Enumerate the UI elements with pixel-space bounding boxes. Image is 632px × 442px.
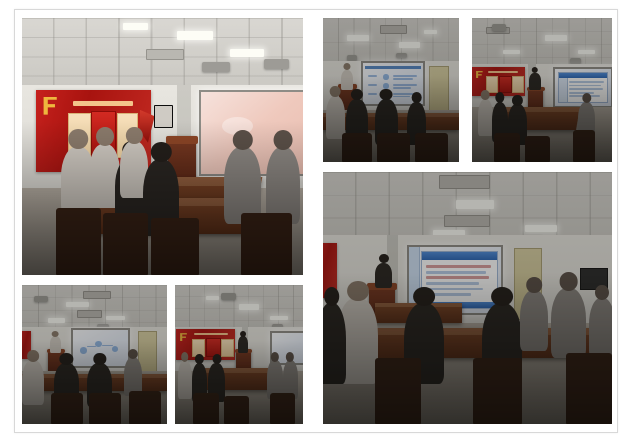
document-text-row xyxy=(569,88,603,90)
slide-text-line xyxy=(393,84,417,86)
slide-text-line xyxy=(393,75,417,77)
ceiling-projector xyxy=(34,296,49,302)
document-sidebar xyxy=(559,78,568,103)
chair xyxy=(224,396,250,424)
slide-node xyxy=(80,347,87,353)
person-head xyxy=(60,353,73,365)
wall-monitor xyxy=(154,105,173,128)
person xyxy=(551,288,586,359)
ceiling-light xyxy=(123,23,148,29)
person-head xyxy=(274,130,293,150)
presenter xyxy=(238,336,248,353)
person xyxy=(520,290,549,350)
ceiling-light xyxy=(424,30,438,34)
person xyxy=(323,303,346,384)
document-text-row xyxy=(426,282,478,285)
person xyxy=(178,360,192,399)
person-head xyxy=(512,95,522,106)
chair xyxy=(525,136,550,162)
person xyxy=(22,360,44,404)
photo-scene xyxy=(472,18,612,162)
ceiling-projector xyxy=(202,62,230,72)
person-head xyxy=(96,127,114,146)
person xyxy=(224,147,261,224)
person-head xyxy=(68,129,88,149)
person xyxy=(478,99,493,136)
person-head xyxy=(195,354,203,364)
photo-diagram-slide[interactable] xyxy=(22,285,167,424)
person-head xyxy=(212,354,221,364)
document-title-bar xyxy=(422,252,497,260)
document-text-row xyxy=(426,271,486,274)
ceiling-light xyxy=(230,49,264,57)
slide-node xyxy=(95,341,102,347)
photo-room-wide-banner[interactable] xyxy=(472,18,612,162)
slide-node xyxy=(112,346,119,352)
person-head xyxy=(412,92,423,103)
ceiling-light xyxy=(399,42,419,48)
slide-text-line xyxy=(393,78,413,80)
slide-text-line xyxy=(368,93,378,95)
person-head xyxy=(93,353,106,365)
chair xyxy=(473,358,522,424)
person-head xyxy=(526,277,542,293)
person-head xyxy=(324,287,340,306)
slide-text-line xyxy=(368,84,378,86)
banner-slogan xyxy=(73,101,133,105)
ceiling-light xyxy=(206,296,219,300)
chair xyxy=(56,208,101,275)
chair xyxy=(151,218,199,275)
person-head xyxy=(491,287,513,306)
chair xyxy=(51,393,83,424)
ac-vent xyxy=(439,175,490,190)
chair xyxy=(270,393,296,424)
person-head xyxy=(380,89,393,101)
chair xyxy=(494,133,519,162)
ceiling-light xyxy=(239,304,259,310)
document-text-row xyxy=(569,85,601,87)
ceiling-light xyxy=(525,225,557,233)
ceiling-projector xyxy=(221,293,236,300)
document-text-row xyxy=(426,288,483,291)
ceiling-light xyxy=(106,316,125,321)
ceiling-projector xyxy=(396,53,407,59)
photo-banner-room[interactable] xyxy=(175,285,303,424)
document-text-row xyxy=(426,265,490,268)
person-head xyxy=(271,352,279,362)
ac-vent xyxy=(77,310,102,318)
person-head xyxy=(347,281,369,302)
ceiling-projector xyxy=(264,59,289,69)
person-head xyxy=(379,254,389,264)
person-head xyxy=(559,272,578,290)
photo-scene xyxy=(323,172,612,424)
person xyxy=(589,298,612,358)
person-head xyxy=(351,89,363,101)
person-head xyxy=(343,63,350,70)
document-text-row xyxy=(569,81,604,83)
ceiling-light xyxy=(270,316,288,321)
chair xyxy=(193,393,219,424)
person-head xyxy=(481,90,490,100)
ac-vent xyxy=(146,49,185,60)
photo-presentation-slide[interactable] xyxy=(323,18,459,162)
person-head xyxy=(286,352,294,362)
presenter xyxy=(341,70,353,90)
slide-header-bar xyxy=(365,66,420,70)
person-head xyxy=(240,331,246,337)
chair xyxy=(573,130,595,162)
door xyxy=(429,66,449,111)
party-emblem xyxy=(42,97,57,115)
presenter xyxy=(529,73,540,90)
banner-slogan xyxy=(488,71,518,73)
ceiling-light xyxy=(66,302,89,308)
ac-vent xyxy=(380,25,406,34)
banner-panel xyxy=(221,339,234,357)
ceiling-light xyxy=(503,50,520,54)
slide-text-line xyxy=(393,87,411,89)
party-emblem xyxy=(475,71,482,78)
chair xyxy=(377,133,410,162)
person xyxy=(266,147,300,224)
photo-scene xyxy=(175,285,303,424)
banner-panel xyxy=(499,76,513,94)
ceiling-light xyxy=(545,35,567,41)
ac-vent xyxy=(444,215,489,227)
photo-scene xyxy=(22,18,303,275)
ac-vent xyxy=(83,291,111,300)
ceiling-light xyxy=(578,50,595,54)
ceiling-light xyxy=(456,200,494,209)
chair xyxy=(241,213,292,275)
person-head xyxy=(595,285,609,301)
person-head xyxy=(330,86,341,97)
slide-connector xyxy=(87,346,97,347)
chair xyxy=(375,358,421,424)
chair xyxy=(129,391,161,424)
person xyxy=(326,96,345,139)
person-head xyxy=(52,331,59,337)
photo-lecture-large[interactable] xyxy=(323,172,612,424)
banner-panel xyxy=(512,76,524,92)
chair xyxy=(89,393,121,424)
photo-scene xyxy=(22,285,167,424)
person-head xyxy=(413,287,435,306)
chair xyxy=(342,133,372,162)
chair xyxy=(566,353,612,424)
ceiling-light xyxy=(347,35,369,41)
photo-main-meeting-room[interactable] xyxy=(22,18,303,275)
slide-text-line xyxy=(368,75,378,77)
slide-node xyxy=(383,74,388,79)
person-head xyxy=(128,349,138,359)
presenter xyxy=(50,336,62,353)
chair xyxy=(415,133,448,162)
person-head xyxy=(181,352,189,362)
slide-text-line xyxy=(393,96,410,98)
podium-top xyxy=(166,136,199,144)
ceiling-light xyxy=(48,318,65,323)
photo-scene xyxy=(323,18,459,162)
document-text-row xyxy=(569,92,594,94)
party-emblem xyxy=(179,333,187,341)
person-head xyxy=(27,350,39,362)
ceiling-light xyxy=(177,31,214,40)
slide-connector xyxy=(102,345,113,346)
photo-gallery-card xyxy=(14,9,618,433)
document-text-row xyxy=(426,276,489,279)
banner-slogan xyxy=(194,333,228,335)
chair xyxy=(103,213,148,275)
ceiling-projector xyxy=(492,24,506,31)
presenter xyxy=(375,263,392,288)
